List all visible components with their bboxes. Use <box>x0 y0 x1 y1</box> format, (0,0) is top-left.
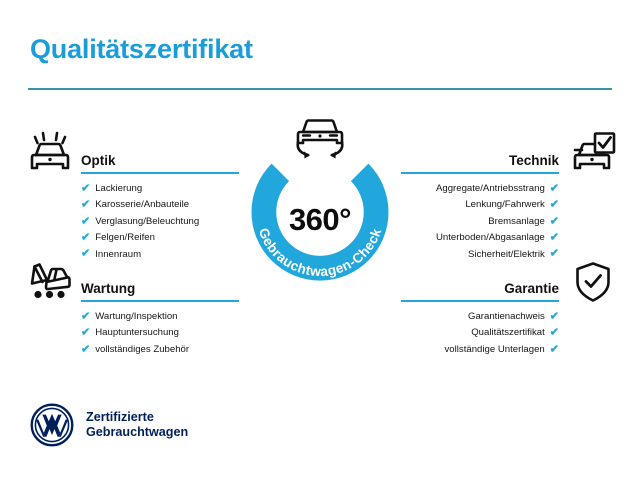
list-item: ✔Verglasung/Beleuchtung <box>81 214 205 230</box>
check-icon: ✔ <box>550 216 559 227</box>
list-item: ✔Wartung/Inspektion <box>81 309 205 325</box>
section-garantie: Garantie Garantienachweis✔ Qualitätszert… <box>435 268 559 358</box>
list-item: ✔Innenraum <box>81 247 205 263</box>
car-rotate-360-icon <box>286 112 354 164</box>
check-icon: ✔ <box>81 344 90 355</box>
section-wartung-divider <box>81 300 205 302</box>
section-technik-divider <box>435 172 559 174</box>
list-item-label: vollständiges Zubehör <box>95 342 189 358</box>
list-item-label: Garantienachweis <box>468 309 545 325</box>
list-item-label: Karosserie/Anbauteile <box>95 197 189 213</box>
list-item-label: Innenraum <box>95 247 141 263</box>
section-wartung-header: Wartung <box>81 268 205 302</box>
car-checkbox-icon <box>568 130 616 181</box>
section-garantie-divider <box>435 300 559 302</box>
list-item-label: Felgen/Reifen <box>95 230 155 246</box>
list-item-label: Lenkung/Fahrwerk <box>465 197 544 213</box>
section-wartung-title: Wartung <box>81 281 135 296</box>
list-item-label: Hauptuntersuchung <box>95 325 179 341</box>
check-icon: ✔ <box>550 232 559 243</box>
section-wartung: Wartung ✔Wartung/Inspektion ✔Hauptunters… <box>81 268 205 358</box>
check-icon: ✔ <box>81 232 90 243</box>
list-item: vollständige Unterlagen✔ <box>435 342 559 358</box>
list-item-label: Wartung/Inspektion <box>95 309 177 325</box>
shield-check-icon <box>572 260 614 309</box>
section-garantie-list: Garantienachweis✔ Qualitätszertifikat✔ v… <box>435 309 559 358</box>
check-icon: ✔ <box>550 344 559 355</box>
section-optik-list: ✔Lackierung ✔Karosserie/Anbauteile ✔Verg… <box>81 181 205 263</box>
list-item-label: Aggregate/Antriebsstrang <box>436 181 545 197</box>
section-optik-header: Optik <box>81 140 205 174</box>
check-icon: ✔ <box>550 183 559 194</box>
list-item-label: Bremsanlage <box>488 214 545 230</box>
list-item-label: Sicherheit/Elektrik <box>468 247 545 263</box>
list-item-label: Verglasung/Beleuchtung <box>95 214 199 230</box>
list-item: Qualitätszertifikat✔ <box>435 325 559 341</box>
list-item: Lenkung/Fahrwerk✔ <box>435 197 559 213</box>
section-technik-list: Aggregate/Antriebsstrang✔ Lenkung/Fahrwe… <box>435 181 559 263</box>
list-item: ✔Hauptuntersuchung <box>81 325 205 341</box>
check-icon: ✔ <box>550 200 559 211</box>
section-technik: Technik Aggregate/Antriebsstrang✔ Lenkun… <box>435 140 559 263</box>
check-icon: ✔ <box>81 249 90 260</box>
volkswagen-logo-icon <box>30 403 74 447</box>
list-item: ✔Karosserie/Anbauteile <box>81 197 205 213</box>
footer-text: Zertifizierte Gebrauchtwagen <box>86 410 188 441</box>
check-icon: ✔ <box>81 200 90 211</box>
list-item: Garantienachweis✔ <box>435 309 559 325</box>
check-icon: ✔ <box>81 328 90 339</box>
list-item: ✔vollständiges Zubehör <box>81 342 205 358</box>
section-optik-title: Optik <box>81 153 116 168</box>
list-item-label: vollständige Unterlagen <box>445 342 545 358</box>
check-icon: ✔ <box>81 216 90 227</box>
list-item: ✔Lackierung <box>81 181 205 197</box>
check-icon: ✔ <box>81 183 90 194</box>
list-item: Sicherheit/Elektrik✔ <box>435 247 559 263</box>
check-icon: ✔ <box>550 249 559 260</box>
gebrauchtwagen-check-badge: Gebrauchtwagen-Check 360° <box>228 120 412 304</box>
pen-car-service-icon <box>26 258 74 309</box>
section-technik-header: Technik <box>435 140 559 174</box>
check-icon: ✔ <box>81 311 90 322</box>
section-wartung-list: ✔Wartung/Inspektion ✔Hauptuntersuchung ✔… <box>81 309 205 358</box>
car-shine-icon <box>26 130 74 181</box>
title-divider <box>28 88 612 90</box>
section-optik-divider <box>81 172 205 174</box>
list-item: Bremsanlage✔ <box>435 214 559 230</box>
certificate-page: Qualitätszertifikat <box>0 0 640 480</box>
check-icon: ✔ <box>550 328 559 339</box>
footer-brand: Zertifizierte Gebrauchtwagen <box>30 403 188 447</box>
list-item-label: Lackierung <box>95 181 142 197</box>
list-item-label: Unterboden/Abgasanlage <box>436 230 545 246</box>
page-title: Qualitätszertifikat <box>30 34 253 65</box>
section-technik-title: Technik <box>509 153 559 168</box>
list-item-label: Qualitätszertifikat <box>471 325 545 341</box>
footer-line-2: Gebrauchtwagen <box>86 425 188 441</box>
list-item: Aggregate/Antriebsstrang✔ <box>435 181 559 197</box>
list-item: ✔Felgen/Reifen <box>81 230 205 246</box>
section-garantie-header: Garantie <box>435 268 559 302</box>
list-item: Unterboden/Abgasanlage✔ <box>435 230 559 246</box>
footer-line-1: Zertifizierte <box>86 410 188 426</box>
check-icon: ✔ <box>550 311 559 322</box>
section-optik: Optik ✔Lackierung ✔Karosserie/Anbauteile… <box>81 140 205 263</box>
section-garantie-title: Garantie <box>504 281 559 296</box>
